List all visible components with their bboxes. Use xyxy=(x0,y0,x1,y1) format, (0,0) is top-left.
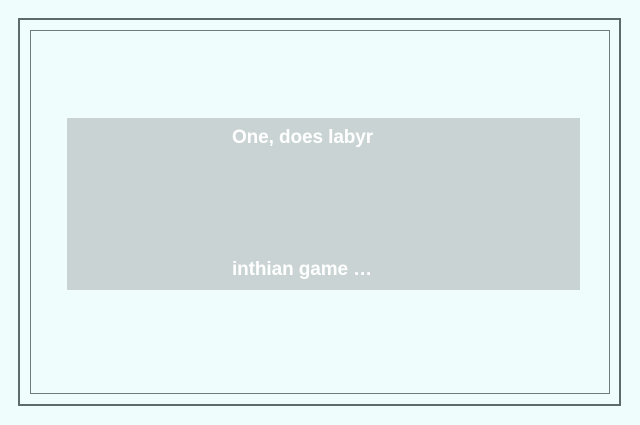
caption-line-1: One, does labyr xyxy=(232,116,373,160)
page-root: One, does labyr inthian game … xyxy=(0,0,640,425)
placeholder-caption: One, does labyr inthian game … xyxy=(232,28,373,380)
image-placeholder-block: One, does labyr inthian game … xyxy=(67,118,580,290)
caption-line-2: inthian game … xyxy=(232,248,373,292)
outer-frame-border: One, does labyr inthian game … xyxy=(18,18,621,406)
inner-frame-border: One, does labyr inthian game … xyxy=(30,30,610,394)
